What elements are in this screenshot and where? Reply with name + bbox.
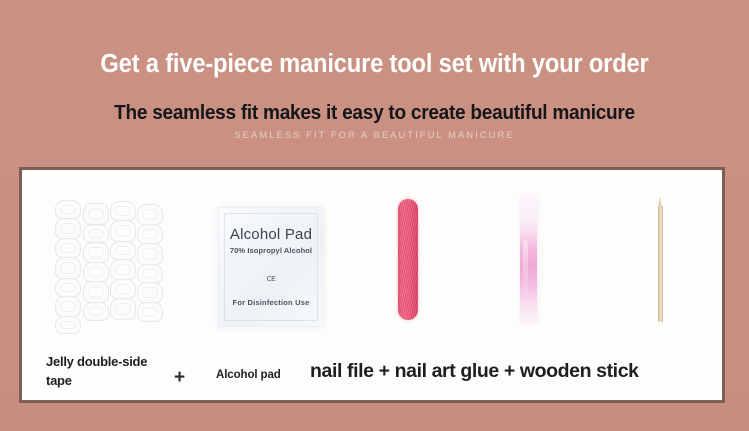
tape-tab [55,296,81,317]
label-tools-group: nail file + nail art glue + wooden stick [310,360,639,383]
tape-column [136,200,163,332]
tape-tab [137,224,163,244]
tape-tab [137,282,163,303]
product-image-row: Alcohol Pad 70% Isopropyl Alcohol CE For… [22,170,722,348]
tape-tab [55,257,81,279]
wooden-stick-shaft [658,206,663,322]
tape-tab [137,302,163,322]
product-label-row: Jelly double-side tape + Alcohol pad nai… [22,342,722,400]
tape-tab [137,204,163,225]
tape-column [82,200,109,332]
tape-tab [110,220,136,242]
product-panel-inner: Alcohol Pad 70% Isopropyl Alcohol CE For… [22,170,722,400]
tape-tab [110,201,136,221]
tape-tab [83,281,109,303]
label-alcohol-pad: Alcohol pad [216,369,281,383]
tape-tab [83,224,109,243]
microcaps-tagline: SEAMLESS FIT FOR A BEAUTIFUL MANICURE [0,131,749,141]
tape-tab [110,298,136,320]
product-image-jelly-tape [52,200,164,332]
tape-tab [110,241,136,260]
tape-column [54,200,81,332]
tape-tab [110,279,136,299]
plus-separator: + [174,368,185,387]
tape-tab [110,259,136,280]
alcohol-pad-title: Alcohol Pad [219,226,323,243]
promo-banner: Get a five-piece manicure tool set with … [0,0,749,431]
ce-mark-icon: CE [219,276,323,283]
alcohol-pad-footer: For Disinfection Use [219,298,323,307]
tape-tab [55,238,81,258]
label-jelly-tape: Jelly double-side tape [46,353,164,391]
tape-tab [55,316,81,334]
alcohol-pad-subtitle: 70% Isopropyl Alcohol [219,246,323,255]
tape-tab [83,302,109,321]
tape-tab [55,278,81,297]
tape-tab [83,242,109,263]
tape-column [109,200,136,332]
tape-tab [137,264,163,283]
product-panel: Alcohol Pad 70% Isopropyl Alcohol CE For… [19,167,725,403]
product-image-nail-file [398,199,418,320]
subheadline: The seamless fit makes it easy to create… [26,102,723,125]
tape-tab [83,262,109,282]
product-image-alcohol-pad: Alcohol Pad 70% Isopropyl Alcohol CE For… [218,207,324,327]
headline: Get a five-piece manicure tool set with … [26,50,723,78]
tape-tab [83,203,109,225]
tape-tab [55,200,81,219]
tape-tab [55,218,81,239]
tape-tab [137,243,163,265]
product-image-nail-art-glue [520,198,537,322]
product-image-wooden-stick [658,196,663,322]
